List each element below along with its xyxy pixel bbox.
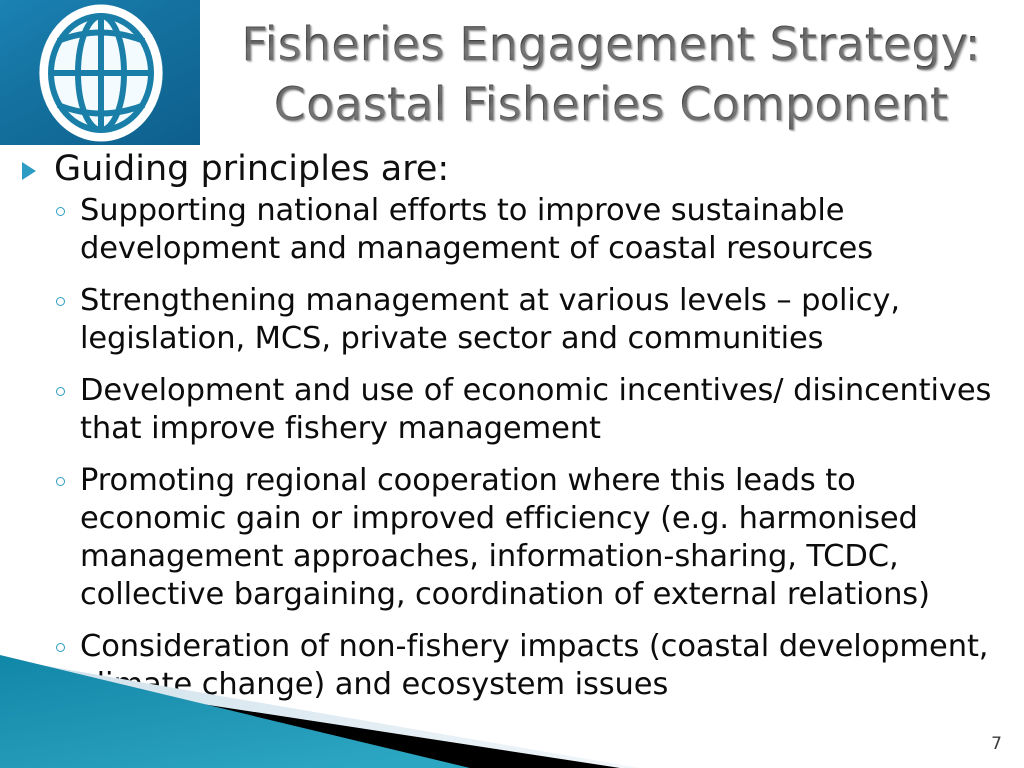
list-item: Consideration of non-fishery impacts (co… [0,628,1024,704]
bullet-heading-text: Guiding principles are: [54,149,449,189]
triangle-right-icon [22,162,36,180]
hollow-circle-icon [56,477,65,486]
list-item-text: Development and use of economic incentiv… [80,373,991,446]
list-item: Promoting regional cooperation where thi… [0,462,1024,614]
slide-title: Fisheries Engagement Strategy: Coastal F… [208,4,1014,144]
list-item-text: Promoting regional cooperation where thi… [80,463,930,612]
list-item: Strengthening management at various leve… [0,282,1024,358]
presentation-slide: Fisheries Engagement Strategy: Coastal F… [0,0,1024,768]
list-item-text: Strengthening management at various leve… [80,283,900,356]
slide-number: 7 [991,734,1002,754]
slide-content: Guiding principles are: Supporting natio… [0,146,1024,718]
slide-header: Fisheries Engagement Strategy: Coastal F… [0,0,1024,146]
list-item-text: Consideration of non-fishery impacts (co… [80,629,988,702]
slide-title-line-2: Coastal Fisheries Component [274,74,948,134]
list-item: Supporting national efforts to improve s… [0,192,1024,268]
hollow-circle-icon [56,297,65,306]
logo-container [0,0,200,145]
list-item: Development and use of economic incentiv… [0,372,1024,448]
hollow-circle-icon [56,387,65,396]
hollow-circle-icon [56,207,65,216]
world-bank-globe-icon [18,2,184,144]
sub-bullet-list: Supporting national efforts to improve s… [0,192,1024,704]
list-item-text: Supporting national efforts to improve s… [80,193,873,266]
bullet-heading: Guiding principles are: [0,146,1024,192]
hollow-circle-icon [56,643,65,652]
slide-title-line-1: Fisheries Engagement Strategy: [241,14,980,74]
